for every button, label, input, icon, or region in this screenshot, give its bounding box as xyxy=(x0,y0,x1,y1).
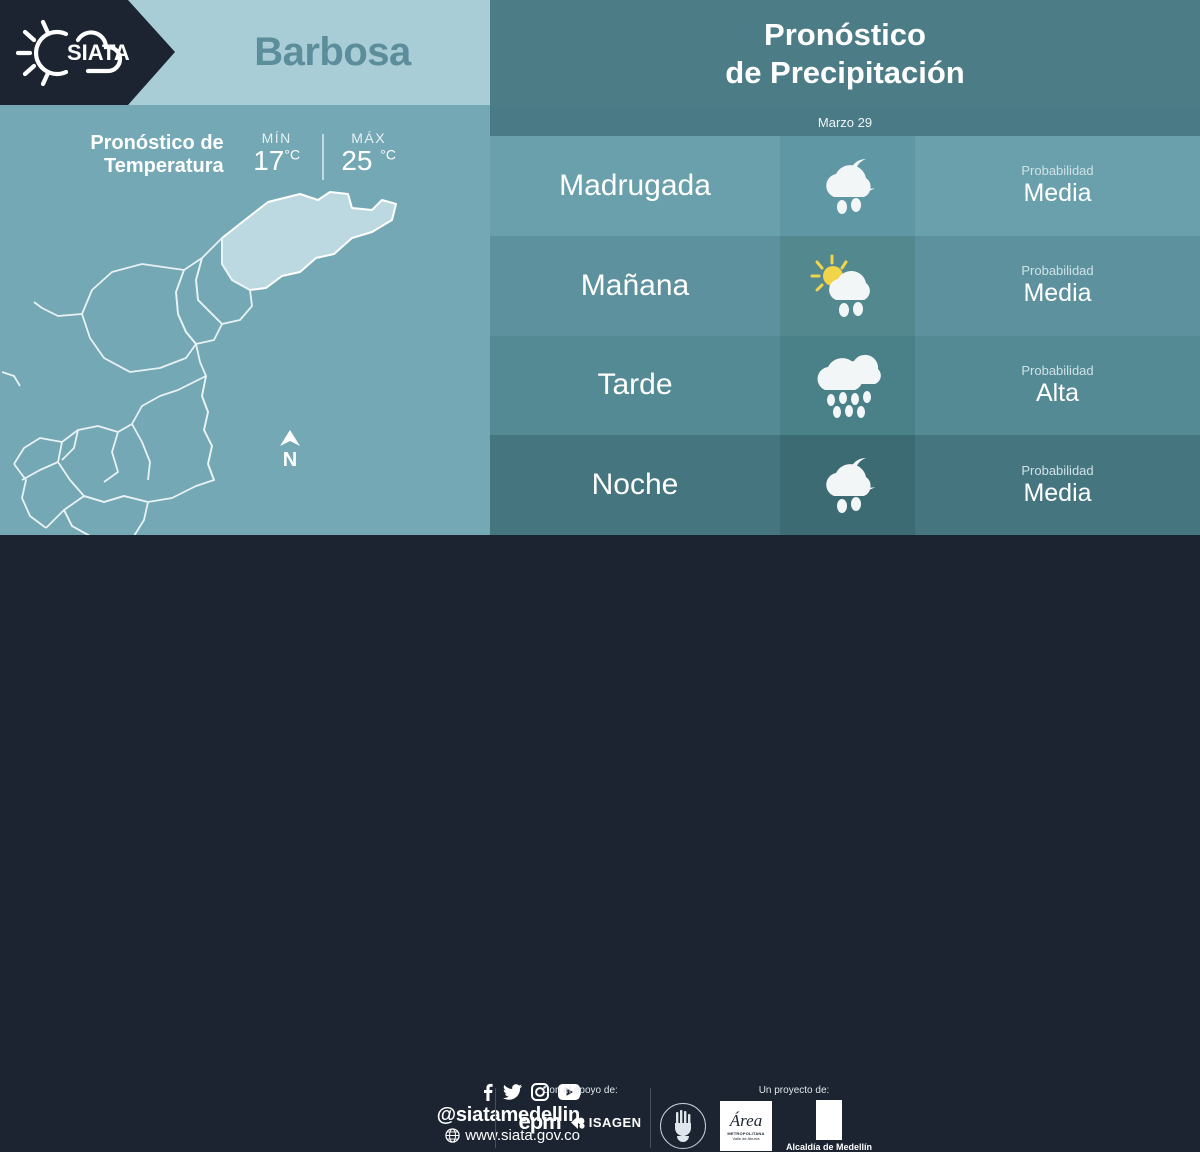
left-body: Pronóstico de Temperatura MÍN 17°C MÁX xyxy=(0,105,490,535)
region-division-3 xyxy=(132,424,150,480)
footer-divider-1 xyxy=(495,1088,496,1148)
precipitation-title-line1: Pronóstico xyxy=(725,16,964,54)
region-division-4 xyxy=(14,438,62,464)
aburra-valley-map xyxy=(0,180,490,535)
left-panel: SIATA Barbosa Pronóstico de Temperatura … xyxy=(0,0,490,535)
project-logos: Área METROPOLITANA Valle de Aburrá Alcal… xyxy=(660,1100,890,1152)
temperature-max-unit: °C xyxy=(380,147,396,163)
compass-arrow-icon xyxy=(278,430,302,446)
row-period-cell: Madrugada xyxy=(490,136,780,236)
map-svg xyxy=(0,180,490,535)
temperature-min-unit: °C xyxy=(284,147,300,163)
isagen-logo[interactable]: ISAGEN xyxy=(571,1115,642,1130)
row-probability-cell: Probabilidad Media xyxy=(915,136,1200,236)
region-division-8 xyxy=(2,372,20,386)
row-icon-cell xyxy=(780,435,915,535)
row-period-cell: Noche xyxy=(490,435,780,535)
probability-caption: Probabilidad xyxy=(1021,363,1093,378)
temperature-title: Pronóstico de Temperatura xyxy=(90,132,223,178)
probability-caption: Probabilidad xyxy=(1021,463,1093,478)
universidad-de-antioquia-seal[interactable] xyxy=(660,1103,706,1149)
footer-divider-2 xyxy=(650,1088,651,1148)
heavy-rain-cloud-icon xyxy=(811,352,885,418)
region-division-6 xyxy=(46,510,90,535)
isagen-mark-icon xyxy=(571,1116,586,1129)
probability-value: Media xyxy=(1023,479,1091,508)
period-label: Madrugada xyxy=(559,169,711,203)
table-row[interactable]: Tarde Probabili xyxy=(490,336,1200,436)
row-probability-cell: Probabilidad Alta xyxy=(915,336,1200,436)
footer-support-block: Con el apoyo de: epm ISAGEN xyxy=(505,1085,655,1135)
siata-logo-badge[interactable]: SIATA xyxy=(0,0,175,105)
siata-wordmark: SIATA xyxy=(67,40,130,65)
sun-cloud-rain-icon xyxy=(810,254,886,318)
temperature-max-value: 25 °C xyxy=(338,146,400,175)
table-row[interactable]: Noche Probabilidad Media xyxy=(490,435,1200,535)
temperature-divider xyxy=(322,134,324,180)
support-logos: epm ISAGEN xyxy=(505,1109,655,1135)
row-icon-cell xyxy=(780,236,915,336)
globe-icon xyxy=(445,1128,460,1143)
precipitation-header: Pronóstico de Precipitación xyxy=(490,0,1200,108)
probability-value: Media xyxy=(1023,179,1091,208)
precipitation-title-line2: de Precipitación xyxy=(725,54,964,92)
probability-value: Media xyxy=(1023,279,1091,308)
region-bello xyxy=(82,264,196,372)
forecast-date: Marzo 29 xyxy=(818,115,872,130)
row-probability-cell: Probabilidad Media xyxy=(915,435,1200,535)
region-division-1 xyxy=(104,432,118,482)
epm-logo[interactable]: epm xyxy=(518,1109,560,1135)
region-medellin-border xyxy=(196,344,214,480)
row-probability-cell: Probabilidad Media xyxy=(915,236,1200,336)
region-barbosa xyxy=(222,192,396,290)
left-header: SIATA Barbosa xyxy=(0,0,490,105)
row-icon-cell xyxy=(780,136,915,236)
table-row[interactable]: Madrugada Probabilidad Media xyxy=(490,136,1200,236)
period-label: Noche xyxy=(592,468,679,502)
region-division-7 xyxy=(22,462,58,480)
row-icon-cell xyxy=(780,336,915,436)
support-caption: Con el apoyo de: xyxy=(505,1085,655,1096)
temperature-values: MÍN 17°C MÁX 25 °C xyxy=(246,130,400,180)
alcaldia-label: Alcaldía de Medellín xyxy=(786,1142,872,1152)
region-medellin xyxy=(58,376,214,502)
alcaldia-de-medellin-logo[interactable]: Alcaldía de Medellín xyxy=(786,1100,872,1152)
table-row[interactable]: Mañana xyxy=(490,236,1200,336)
probability-caption: Probabilidad xyxy=(1021,263,1093,278)
moon-cloud-rain-icon xyxy=(812,454,884,516)
temperature-max: MÁX 25 °C xyxy=(338,130,400,175)
alcaldia-shield-icon xyxy=(816,1100,842,1140)
period-label: Mañana xyxy=(581,269,689,303)
area-metropolitana-logo[interactable]: Área METROPOLITANA Valle de Aburrá xyxy=(720,1101,772,1151)
region-bello-west-edge xyxy=(34,302,82,316)
footer-project-block: Un proyecto de: xyxy=(660,1085,890,1152)
temperature-min-label: MÍN xyxy=(246,130,308,146)
row-period-cell: Mañana xyxy=(490,236,780,336)
forecast-rows: Madrugada Probabilidad Media xyxy=(490,136,1200,535)
temperature-min-value: 17°C xyxy=(246,146,308,175)
precipitation-panel: Pronóstico de Precipitación Marzo 29 Mad… xyxy=(490,0,1200,535)
region-division-2 xyxy=(62,430,78,460)
temperature-min: MÍN 17°C xyxy=(246,130,308,175)
compass-north-label: N xyxy=(278,451,302,469)
probability-value: Alta xyxy=(1036,379,1079,408)
probability-caption: Probabilidad xyxy=(1021,163,1093,178)
period-label: Tarde xyxy=(597,368,672,402)
sun-cloud-icon: SIATA xyxy=(12,14,132,92)
moon-cloud-rain-icon xyxy=(812,155,884,217)
temperature-title-line1: Pronóstico de xyxy=(90,132,223,155)
region-division-5 xyxy=(14,464,46,528)
udea-hand-icon xyxy=(668,1109,698,1143)
row-period-cell: Tarde xyxy=(490,336,780,436)
temperature-max-label: MÁX xyxy=(338,130,400,146)
temperature-title-line2: Temperatura xyxy=(90,155,223,178)
precipitation-title: Pronóstico de Precipitación xyxy=(725,16,964,92)
facebook-icon[interactable] xyxy=(481,1083,494,1101)
city-title: Barbosa xyxy=(175,0,490,105)
footer: @siatamedellin www.siata.gov.co Con el a… xyxy=(0,535,1200,630)
forecast-date-bar: Marzo 29 xyxy=(490,108,1200,136)
weather-forecast-poster: SIATA Barbosa Pronóstico de Temperatura … xyxy=(0,0,1200,630)
project-caption: Un proyecto de: xyxy=(698,1085,890,1096)
compass-rose: N xyxy=(278,430,302,469)
